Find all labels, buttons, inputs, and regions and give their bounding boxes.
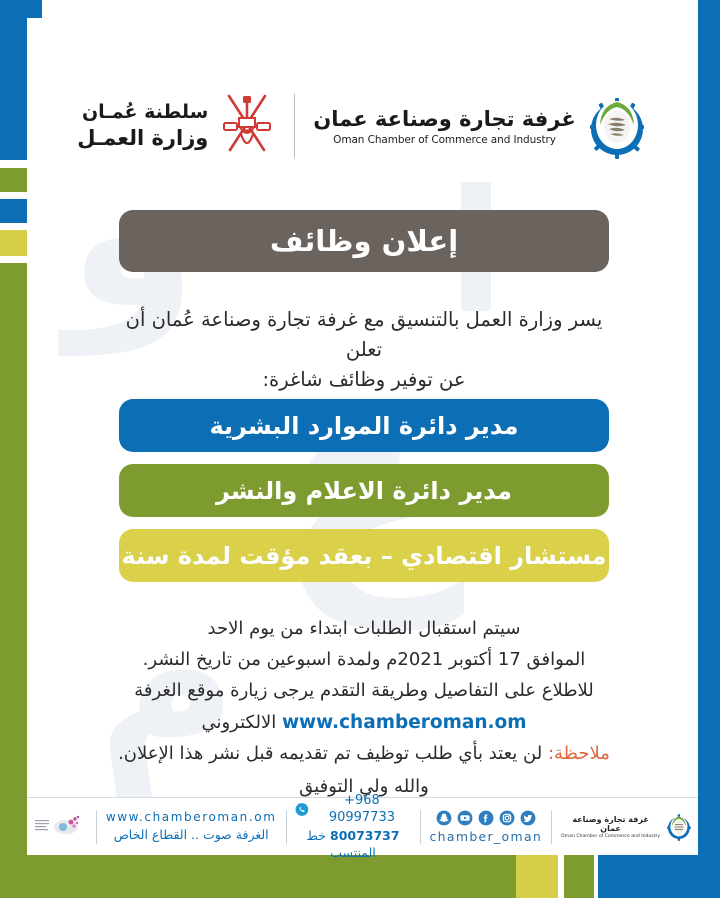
footer-hotline-row: 80073737 خط المنتسب	[295, 828, 410, 862]
footer-mini-mark	[33, 805, 87, 849]
job-label: مدير دائرة الموارد البشرية	[209, 412, 518, 440]
footer-segment-blue	[598, 855, 720, 898]
details-block: سيتم استقبال الطلبات ابتداء من يوم الاحد…	[99, 614, 629, 803]
chamber-mini-logo-icon	[33, 810, 87, 844]
footer-occi-arabic: غرفة تجارة وصناعة عمان	[561, 815, 660, 833]
logo-divider	[294, 94, 295, 158]
occi-arabic-name: غرفة تجارة وصناعة عمان	[313, 107, 575, 131]
footer-occi-seal-icon	[666, 813, 692, 841]
job-label: مدير دائرة الاعلام والنشر	[216, 477, 512, 505]
footer-occi-logo: غرفة تجارة وصناعة عمان Oman Chamber of C…	[561, 805, 692, 849]
oman-khanjar-emblem-icon	[218, 90, 276, 162]
chamber-website-link[interactable]: www.chamberoman.om	[282, 707, 527, 739]
details-line-3: للاطلاع على التفاصيل وطريقة التقدم يرجى …	[99, 676, 629, 707]
job-item-hr-director[interactable]: مدير دائرة الموارد البشرية	[119, 399, 609, 452]
occi-logo-text: غرفة تجارة وصناعة عمان Oman Chamber of C…	[313, 107, 575, 146]
footer-tagline: الغرفة صوت .. القطاع الخاص	[106, 827, 277, 844]
twitter-icon[interactable]	[520, 810, 536, 826]
intro-paragraph: يسر وزارة العمل بالتنسيق مع غرفة تجارة و…	[119, 305, 609, 396]
footer-social-handle: chamber_oman	[429, 829, 542, 844]
rail-chip-blue-long	[0, 0, 27, 160]
footer-occi-english: Oman Chamber of Commerce and Industry	[561, 834, 660, 839]
job-item-media-director[interactable]: مدير دائرة الاعلام والنشر	[119, 464, 609, 517]
footer-whatsapp-number: +968 90997733	[313, 792, 411, 827]
whatsapp-icon[interactable]	[295, 802, 309, 817]
job-list: مدير دائرة الموارد البشرية مدير دائرة ال…	[119, 399, 609, 594]
youtube-icon[interactable]	[457, 810, 473, 826]
ministry-line-2: وزارة العمـل	[77, 125, 208, 151]
details-line-2: الموافق 17 أكتوبر 2021م ولمدة اسبوعين من…	[99, 645, 629, 676]
intro-line-1: يسر وزارة العمل بالتنسيق مع غرفة تجارة و…	[119, 305, 609, 365]
footer-divider-1	[96, 810, 97, 844]
footer-divider-2	[286, 810, 287, 844]
ministry-of-labour-logo: سلطنة عُمـان وزارة العمـل	[77, 90, 276, 162]
footer-segment-olive-1	[0, 855, 516, 898]
details-website-prefix: الالكتروني	[201, 712, 276, 733]
ministry-logo-text: سلطنة عُمـان وزارة العمـل	[77, 101, 208, 151]
job-announcement-poster: و ع م ا سلطنة عُمـان وزارة العمـل	[0, 0, 720, 898]
rail-chip-olive-long	[0, 263, 27, 855]
footer-divider-4	[551, 810, 552, 844]
details-note-line: ملاحظة: لن يعتد بأي طلب توظيف تم تقديمه …	[99, 739, 629, 770]
job-label: مستشار اقتصادي – بعقد مؤقت لمدة سنة	[122, 542, 607, 570]
footer-contact-cell: +968 90997733 80073737 خط المنتسب	[295, 805, 410, 849]
ministry-line-1: سلطنة عُمـان	[77, 101, 208, 125]
occi-seal-icon	[586, 93, 648, 159]
rail-chip-olive-1	[0, 168, 27, 192]
intro-line-2: عن توفير وظائف شاغرة:	[119, 365, 609, 395]
rail-chip-yellow	[0, 230, 27, 256]
rail-chip-blue-2	[0, 199, 27, 223]
footer-hotline-number: 80073737	[330, 828, 400, 843]
occi-logo: غرفة تجارة وصناعة عمان Oman Chamber of C…	[313, 93, 647, 159]
poster-canvas: و ع م ا سلطنة عُمـان وزارة العمـل	[27, 18, 698, 854]
snapchat-icon[interactable]	[436, 810, 452, 826]
occi-english-name: Oman Chamber of Commerce and Industry	[313, 134, 575, 146]
footer-segment-yellow	[516, 855, 558, 898]
right-color-rail	[698, 0, 720, 898]
header-logo-row: سلطنة عُمـان وزارة العمـل	[27, 80, 698, 172]
footer-website-url: www.chamberoman.om	[106, 809, 277, 825]
footer-segment-olive-2	[564, 855, 594, 898]
title-banner-text: إعلان وظائف	[270, 224, 458, 258]
instagram-icon[interactable]	[499, 810, 515, 826]
note-label: ملاحظة:	[548, 743, 610, 764]
details-website-line: www.chamberoman.om الالكتروني	[99, 707, 629, 739]
details-line-1: سيتم استقبال الطلبات ابتداء من يوم الاحد	[99, 614, 629, 645]
facebook-icon[interactable]	[478, 810, 494, 826]
footer-divider-3	[420, 810, 421, 844]
title-banner: إعلان وظائف	[119, 210, 609, 272]
footer-website-cell[interactable]: www.chamberoman.om الغرفة صوت .. القطاع …	[106, 805, 277, 849]
footer-social-cell: chamber_oman	[429, 805, 542, 849]
footer-bar: www.chamberoman.om الغرفة صوت .. القطاع …	[27, 797, 698, 855]
job-item-economic-advisor[interactable]: مستشار اقتصادي – بعقد مؤقت لمدة سنة	[119, 529, 609, 582]
note-text: لن يعتد بأي طلب توظيف تم تقديمه قبل نشر …	[118, 743, 542, 764]
